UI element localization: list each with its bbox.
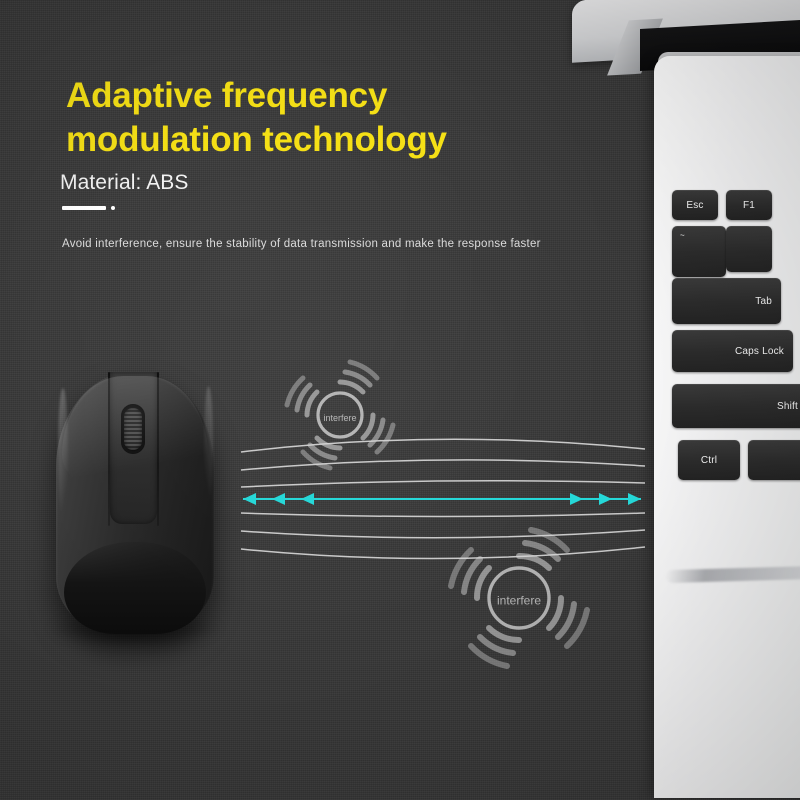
key-tab: Tab xyxy=(672,278,781,324)
product-marketing-image: Esc F1 ~ Tab Caps Lock Shift Ctrl Adapti… xyxy=(0,0,800,800)
key-shift: Shift xyxy=(672,384,800,428)
key-grave: ~ xyxy=(672,226,726,277)
key-grave-label: ~ xyxy=(680,231,685,240)
key-shift-label: Shift xyxy=(777,401,798,412)
headline-line-1: Adaptive frequency xyxy=(66,74,586,118)
key-ctrl: Ctrl xyxy=(678,440,740,480)
key-ctrl-label: Ctrl xyxy=(701,455,717,466)
mouse-right-highlight xyxy=(204,386,213,506)
key-esc-label: Esc xyxy=(686,200,703,211)
mouse-left-button-seam xyxy=(108,372,110,526)
key-esc: Esc xyxy=(672,190,718,220)
key-caps-lock-label: Caps Lock xyxy=(735,346,784,357)
wireless-mouse xyxy=(56,372,214,634)
key-one xyxy=(726,226,772,272)
divider-dot xyxy=(111,206,115,210)
headline-line-2: modulation technology xyxy=(66,118,586,162)
key-fn xyxy=(748,440,800,480)
mouse-left-highlight xyxy=(58,388,68,518)
mouse-right-button-seam xyxy=(157,372,159,526)
subcopy-text: Avoid interference, ensure the stability… xyxy=(62,236,582,252)
key-caps-lock: Caps Lock xyxy=(672,330,793,372)
key-tab-label: Tab xyxy=(755,296,772,307)
mouse-base xyxy=(64,542,206,634)
key-f1: F1 xyxy=(726,190,772,220)
headline-block: Adaptive frequency modulation technology xyxy=(66,74,586,162)
divider xyxy=(62,206,115,210)
divider-bar xyxy=(62,206,106,210)
material-label: Material: ABS xyxy=(60,170,189,196)
key-f1-label: F1 xyxy=(743,200,755,211)
mouse-scroll-wheel xyxy=(124,408,142,450)
laptop-illustration: Esc F1 ~ Tab Caps Lock Shift Ctrl xyxy=(566,0,800,800)
